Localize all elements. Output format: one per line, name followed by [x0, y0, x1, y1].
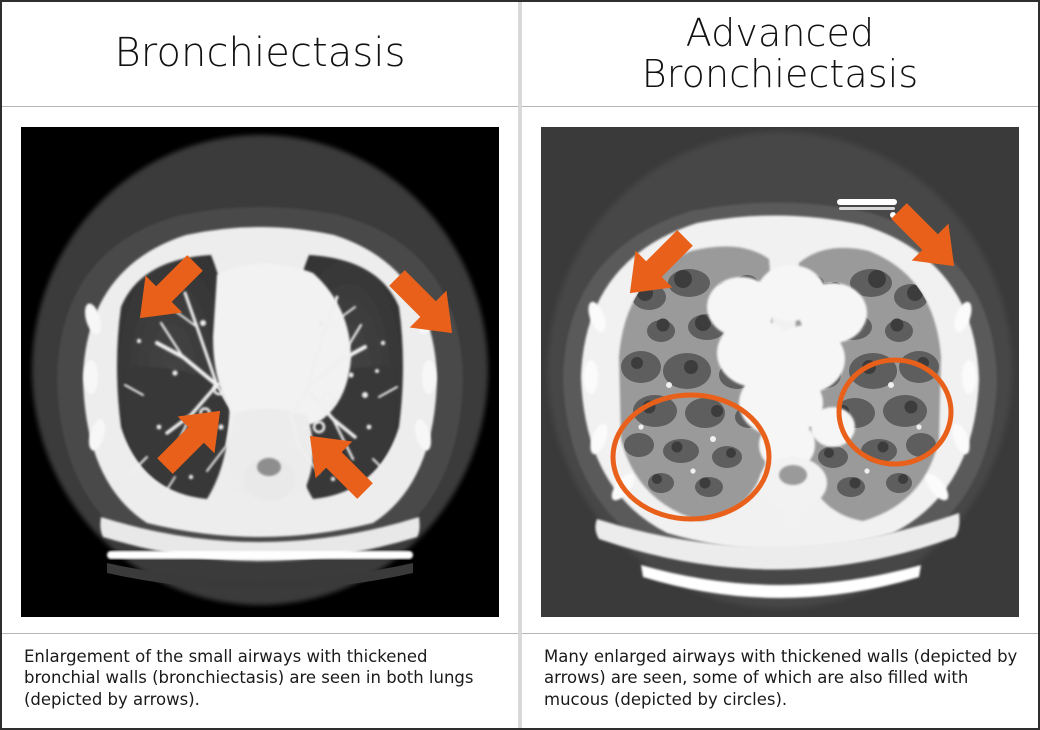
- ct-scan-advanced-bronchiectasis: [541, 127, 1019, 617]
- panel-advanced-bronchiectasis: Advanced Bronchiectasis: [522, 2, 1038, 728]
- page-title-right-line1: Advanced: [642, 13, 919, 54]
- ct-scan-bronchiectasis: [21, 127, 499, 617]
- right-caption-area: Many enlarged airways with thickened wal…: [522, 633, 1038, 728]
- left-image-area: [2, 107, 518, 633]
- ct-image-left: [21, 127, 499, 617]
- ct-comparison-figure: Bronchiectasis: [0, 0, 1040, 730]
- caption-right: Many enlarged airways with thickened wal…: [544, 646, 1018, 710]
- page-title-right-line2: Bronchiectasis: [642, 54, 919, 95]
- left-title-area: Bronchiectasis: [2, 2, 518, 107]
- right-image-area: [522, 107, 1038, 633]
- panel-bronchiectasis: Bronchiectasis: [2, 2, 518, 728]
- page-title-left: Bronchiectasis: [114, 32, 405, 75]
- spinal-canal-right: [779, 465, 807, 485]
- right-title-area: Advanced Bronchiectasis: [522, 2, 1038, 107]
- scanner-table-left: [107, 551, 413, 559]
- caption-left: Enlargement of the small airways with th…: [24, 646, 498, 710]
- left-caption-area: Enlargement of the small airways with th…: [2, 633, 518, 728]
- page-title-right: Advanced Bronchiectasis: [642, 13, 919, 95]
- spinal-canal-left: [257, 458, 281, 476]
- ct-image-right: [541, 127, 1019, 617]
